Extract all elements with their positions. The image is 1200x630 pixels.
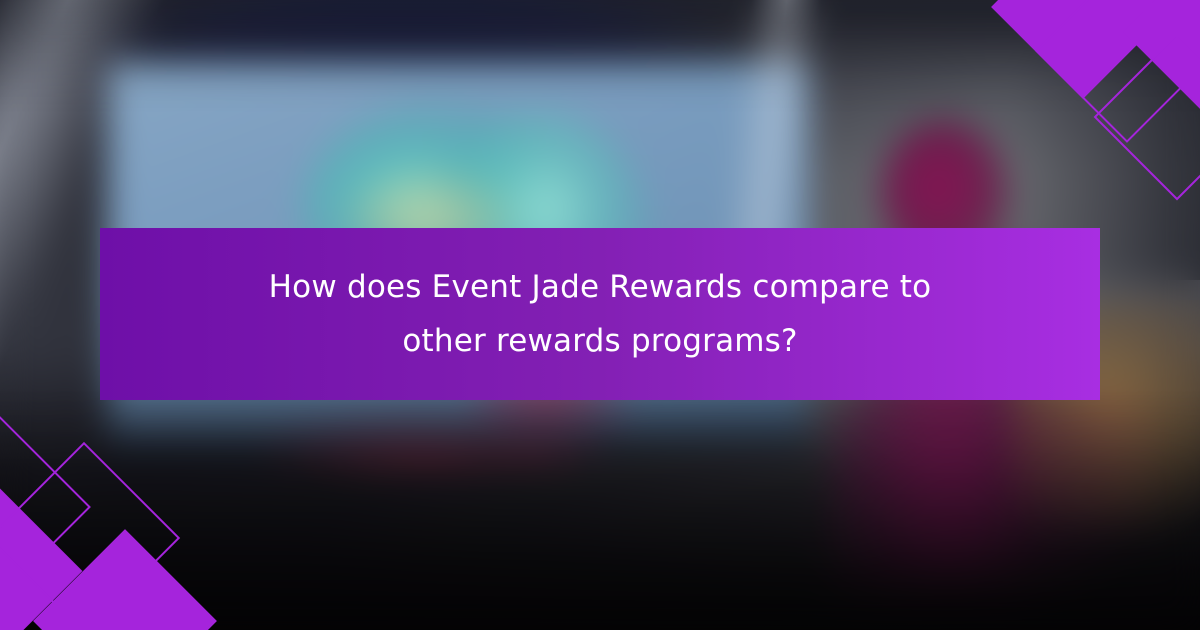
question-text: How does Event Jade Rewards compare to o… bbox=[170, 260, 1030, 368]
question-banner: How does Event Jade Rewards compare to o… bbox=[100, 228, 1100, 400]
share-card: How does Event Jade Rewards compare to o… bbox=[0, 0, 1200, 630]
